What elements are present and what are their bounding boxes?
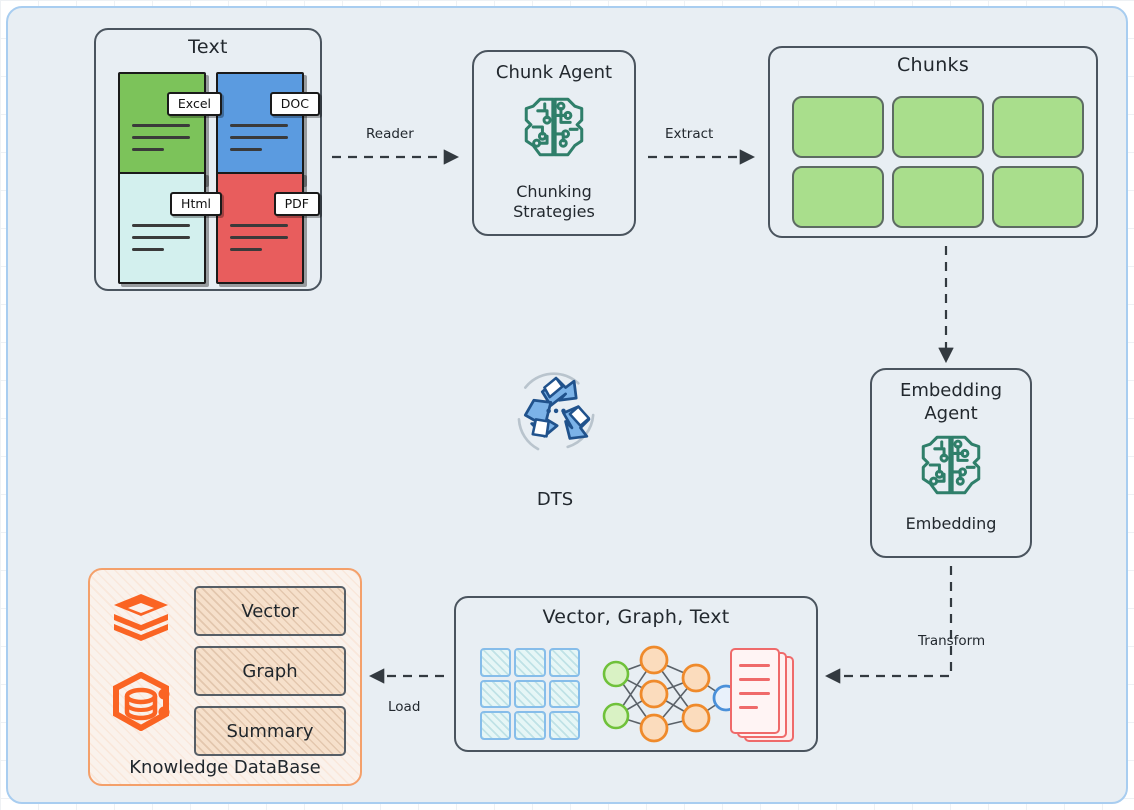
chunk-card[interactable] [992, 166, 1084, 228]
neural-network-icon [596, 644, 742, 748]
brain-circuit-icon [914, 428, 988, 506]
vgt-group-title: Vector, Graph, Text [456, 606, 816, 628]
chunk-card[interactable] [892, 96, 984, 158]
text-group-title: Text [96, 36, 320, 58]
knowledge-db-caption: Knowledge DataBase [90, 757, 360, 778]
arrow-label-extract: Extract [665, 126, 713, 142]
hexagon-database-icon [106, 670, 176, 744]
chunk-card[interactable] [792, 166, 884, 228]
document-card-excel[interactable]: Excel [118, 72, 206, 184]
document-label-pdf: PDF [274, 192, 320, 216]
arrow-label-transform: Transform [918, 633, 985, 649]
knowledge-db-group[interactable]: Vector Graph Summary Knowledge DataBase [88, 568, 362, 786]
chunks-group[interactable]: Chunks [768, 46, 1098, 238]
brain-circuit-icon [517, 90, 591, 168]
dts-node[interactable]: DTS [493, 360, 617, 510]
document-card-pdf[interactable]: PDF [216, 172, 304, 284]
document-lines [230, 124, 288, 160]
chunk-agent-subtitle: Chunking Strategies [474, 182, 634, 222]
document-lines [132, 224, 190, 260]
layers-stack-icon [110, 590, 172, 650]
document-lines [132, 124, 190, 160]
document-label-html: Html [170, 192, 222, 216]
embedding-agent-subtitle: Embedding [872, 514, 1030, 534]
chunk-card[interactable] [892, 166, 984, 228]
document-label-excel: Excel [167, 92, 222, 116]
chunk-card[interactable] [992, 96, 1084, 158]
document-stack-icon [730, 648, 792, 740]
document-card-doc[interactable]: DOC [216, 72, 304, 184]
chunk-agent-title: Chunk Agent [474, 62, 634, 85]
embedding-agent-title: Embedding Agent [872, 380, 1030, 425]
arrow-label-reader: Reader [366, 126, 414, 142]
kdb-item-summary[interactable]: Summary [194, 706, 346, 756]
document-label-doc: DOC [270, 92, 320, 116]
chunk-agent-node[interactable]: Chunk Agent Chunking Strategies [472, 50, 636, 236]
vgt-group[interactable]: Vector, Graph, Text [454, 596, 818, 752]
chunk-card[interactable] [792, 96, 884, 158]
arrow-label-load: Load [388, 699, 420, 715]
kdb-item-graph[interactable]: Graph [194, 646, 346, 696]
recycle-transform-icon [502, 360, 608, 470]
embedding-agent-node[interactable]: Embedding Agent Embedding [870, 368, 1032, 558]
text-group[interactable]: Text Excel DOC Html PDF [94, 28, 322, 291]
kdb-item-vector[interactable]: Vector [194, 586, 346, 636]
vector-matrix-icon [480, 648, 580, 740]
dts-label: DTS [493, 489, 617, 510]
document-lines [230, 224, 288, 260]
document-card-html[interactable]: Html [118, 172, 206, 284]
chunks-group-title: Chunks [770, 54, 1096, 76]
